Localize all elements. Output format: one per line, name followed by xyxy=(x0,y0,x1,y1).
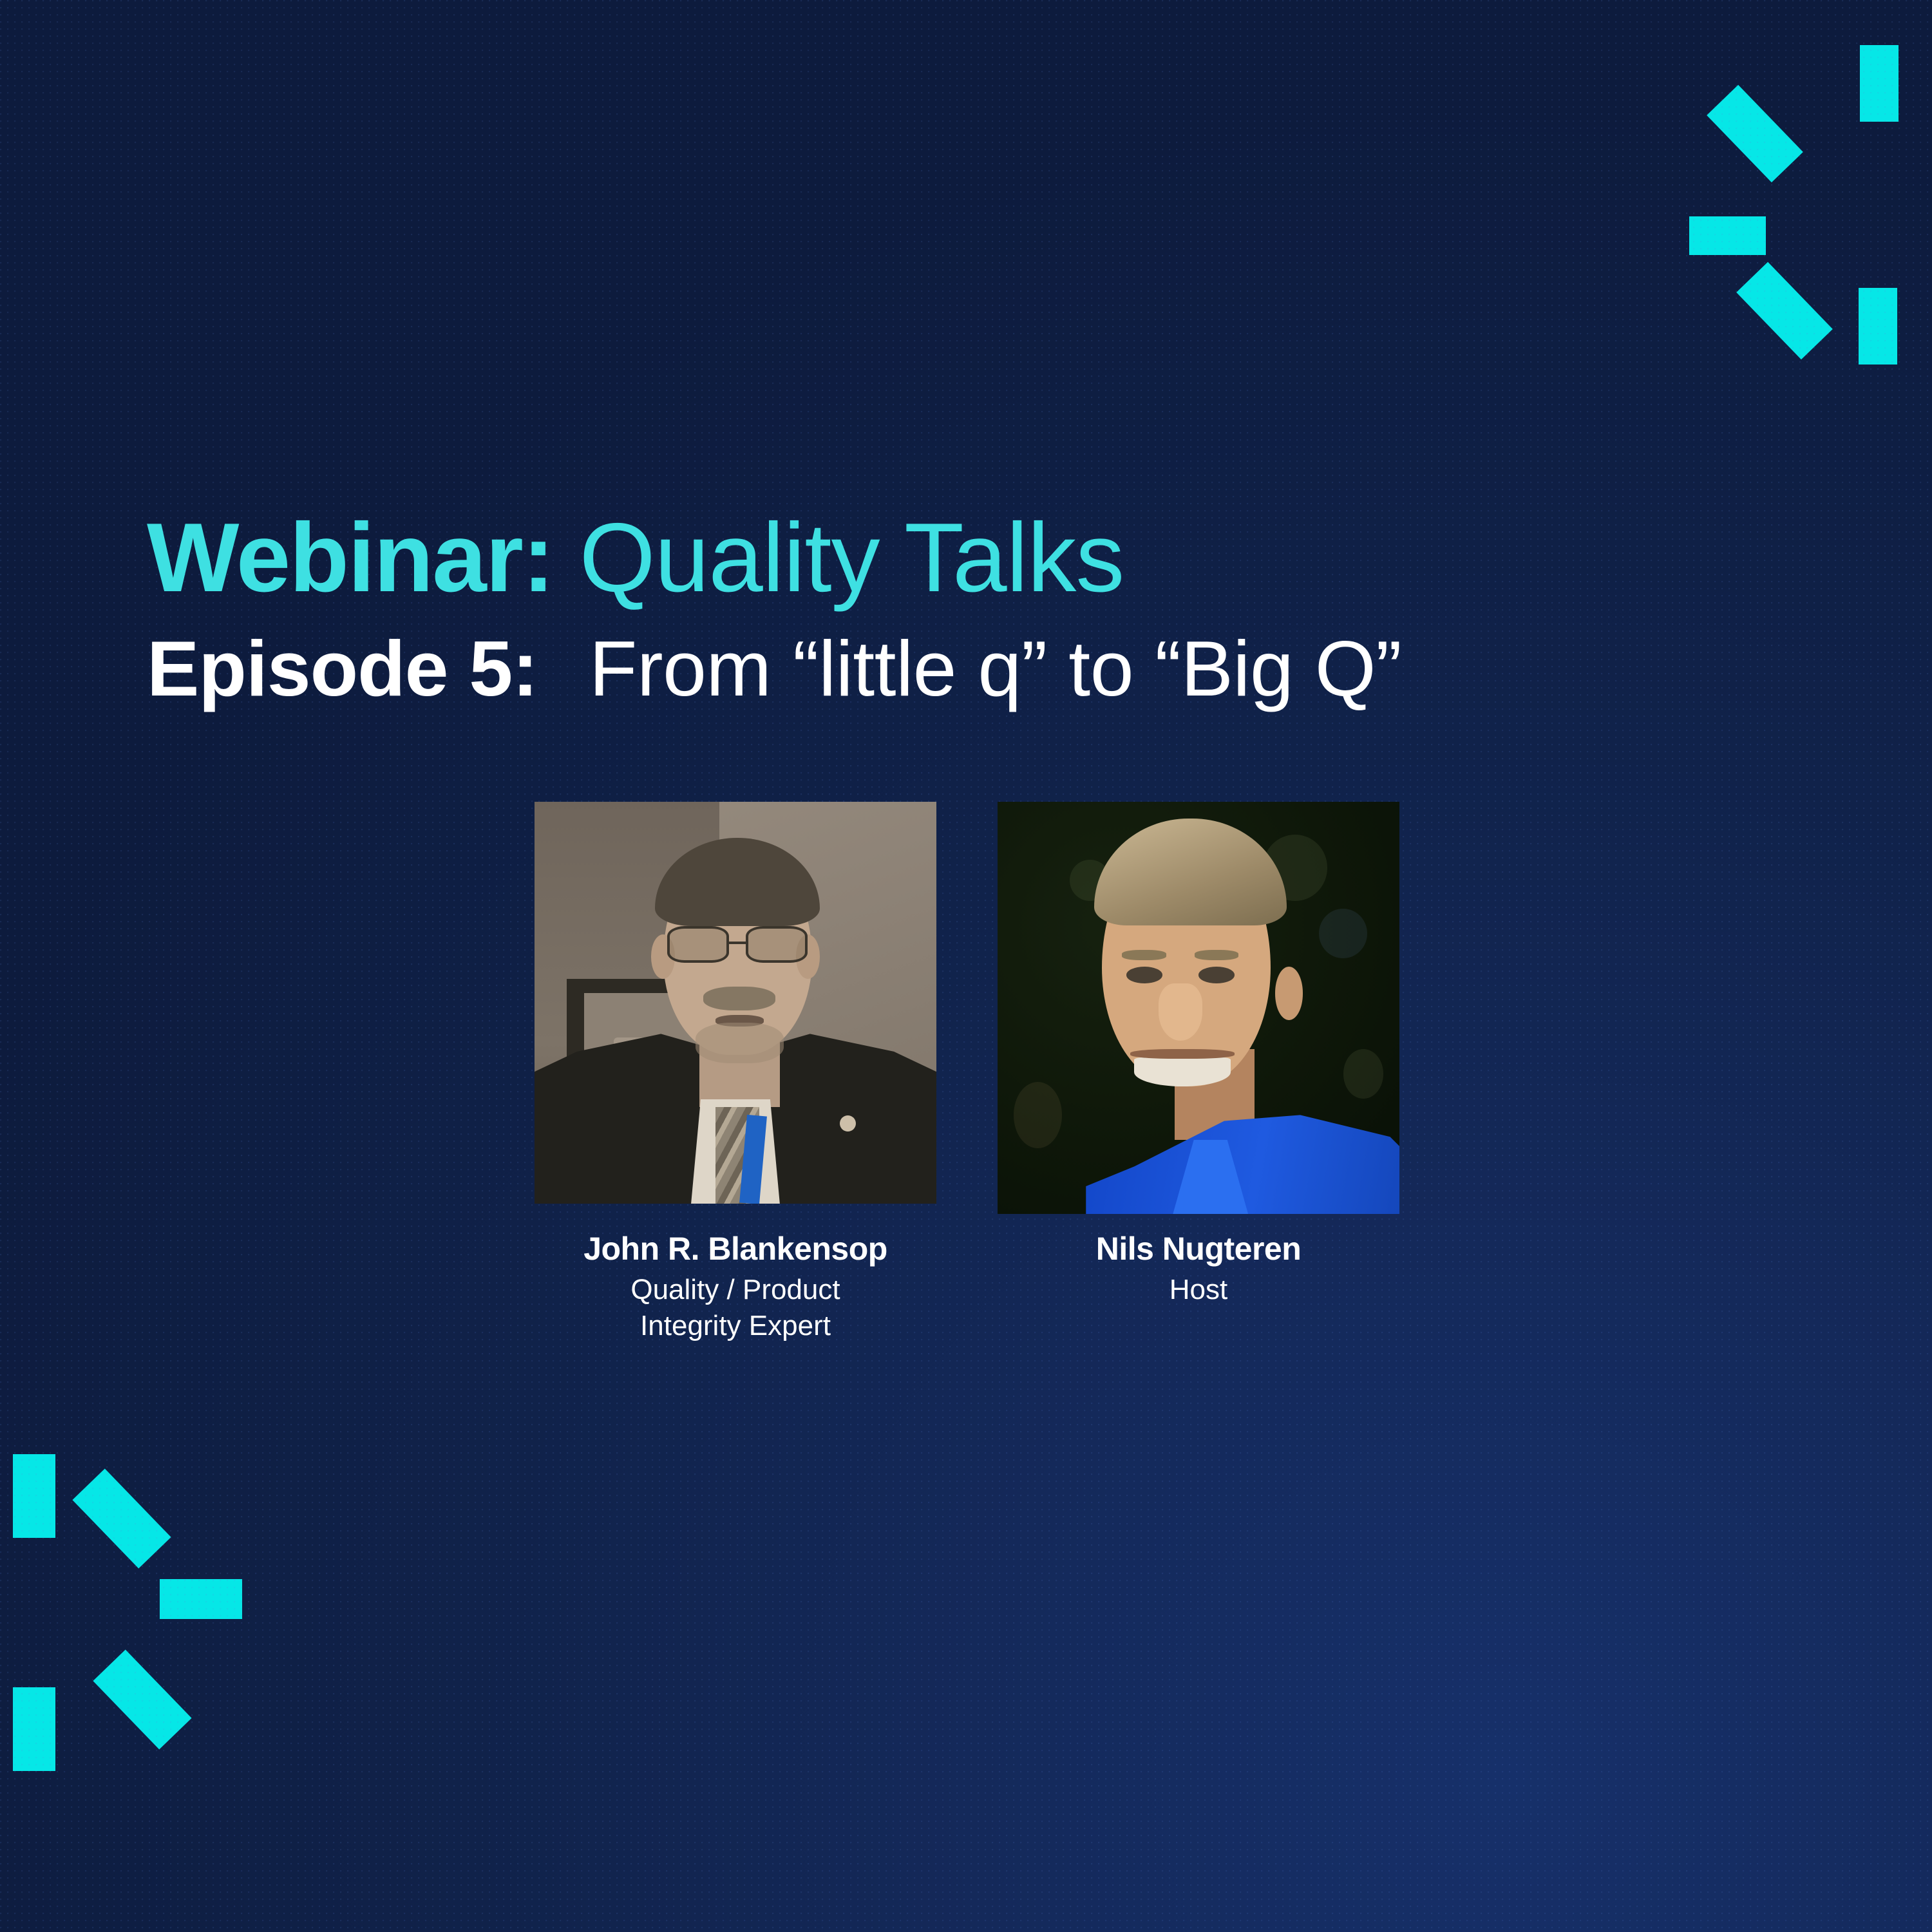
episode-subtitle: From “little q” to “Big Q” xyxy=(589,629,1401,708)
cyan-bar-diagonal-2 xyxy=(1736,262,1833,360)
cyan-bar-diagonal-3 xyxy=(72,1468,171,1568)
speaker-role-1-line1: Quality / Product xyxy=(630,1272,840,1308)
speaker-name-1: John R. Blankensop xyxy=(583,1231,887,1267)
cyan-bar-horizontal-2 xyxy=(160,1579,242,1619)
cyan-bar-diagonal-1 xyxy=(1707,85,1803,183)
episode-title-row: Episode 5: From “little q” to “Big Q” xyxy=(147,629,1564,719)
speaker-card-1: John R. Blankensop Quality / Product Int… xyxy=(535,802,936,1345)
slide-canvas: Webinar: Quality Talks Episode 5: From “… xyxy=(0,0,1932,1932)
speaker-name-2: Nils Nugteren xyxy=(1096,1231,1302,1267)
cyan-bar-vertical-3 xyxy=(13,1454,55,1538)
speaker-role-2-line1: Host xyxy=(1170,1272,1227,1308)
cyan-bar-vertical-4 xyxy=(13,1687,55,1771)
speaker-list: John R. Blankensop Quality / Product Int… xyxy=(535,802,1399,1345)
cyan-bar-vertical-1 xyxy=(1860,45,1899,122)
cyan-bar-horizontal-1 xyxy=(1689,216,1766,255)
webinar-title-row: Webinar: Quality Talks xyxy=(147,509,1564,615)
webinar-series-name: Quality Talks xyxy=(579,509,1124,607)
title-block: Webinar: Quality Talks Episode 5: From “… xyxy=(147,509,1564,719)
cyan-bar-vertical-2 xyxy=(1859,288,1897,365)
cyan-bar-diagonal-4 xyxy=(93,1649,191,1749)
episode-label: Episode 5: xyxy=(147,629,538,708)
portrait-john-blankensop xyxy=(535,802,936,1204)
speaker-card-2: Nils Nugteren Host xyxy=(998,802,1399,1308)
webinar-label: Webinar: xyxy=(147,509,553,607)
speaker-role-1-line2: Integrity Expert xyxy=(640,1308,831,1344)
portrait-nils-nugteren xyxy=(998,802,1399,1214)
